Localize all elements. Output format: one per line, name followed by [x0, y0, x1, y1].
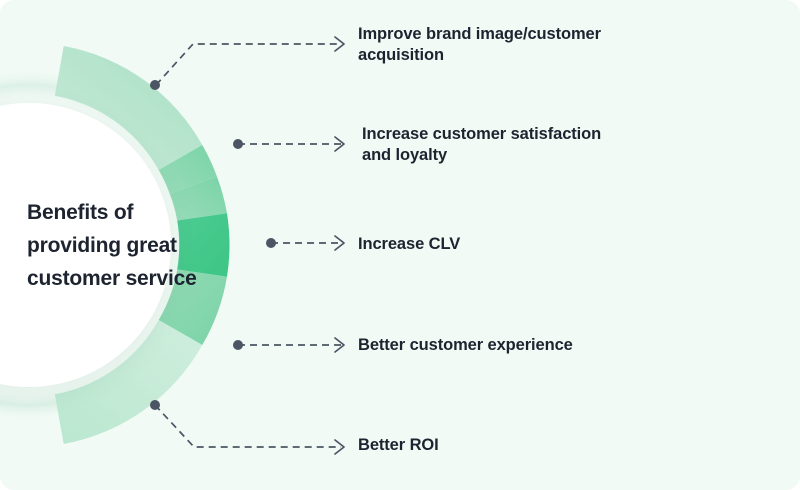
infographic-canvas: Benefits of providing great customer ser…: [0, 0, 800, 490]
segment-label-1-line-1: Increase customer satisfaction: [362, 124, 662, 145]
segment-label-3-line-1: Better customer experience: [358, 335, 658, 356]
segment-dot-3[interactable]: [233, 340, 243, 350]
segment-label-1[interactable]: Increase customer satisfaction and loyal…: [362, 124, 662, 166]
connector-arrow-4: [335, 440, 344, 454]
connector-line-4: [155, 405, 341, 447]
segment-label-1-line-2: and loyalty: [362, 145, 662, 166]
segment-label-0-line-2: acquisition: [358, 45, 658, 66]
center-title: Benefits of providing great customer ser…: [27, 196, 242, 295]
segment-label-4[interactable]: Better ROI: [358, 435, 658, 456]
segment-dot-2[interactable]: [266, 238, 276, 248]
segment-label-0-line-1: Improve brand image/customer: [358, 24, 658, 45]
segment-dot-0[interactable]: [150, 80, 160, 90]
segment-dot-4[interactable]: [150, 400, 160, 410]
segment-dot-1[interactable]: [233, 139, 243, 149]
segment-label-2-line-1: Increase CLV: [358, 234, 658, 255]
segment-label-2[interactable]: Increase CLV: [358, 234, 658, 255]
center-title-line-3: customer service: [27, 262, 242, 295]
segment-label-0[interactable]: Improve brand image/customer acquisition: [358, 24, 658, 66]
segment-label-3[interactable]: Better customer experience: [358, 335, 658, 356]
center-title-line-1: Benefits of: [27, 196, 242, 229]
connector-line-0: [156, 44, 341, 85]
segment-label-4-line-1: Better ROI: [358, 435, 658, 456]
center-title-line-2: providing great: [27, 229, 242, 262]
